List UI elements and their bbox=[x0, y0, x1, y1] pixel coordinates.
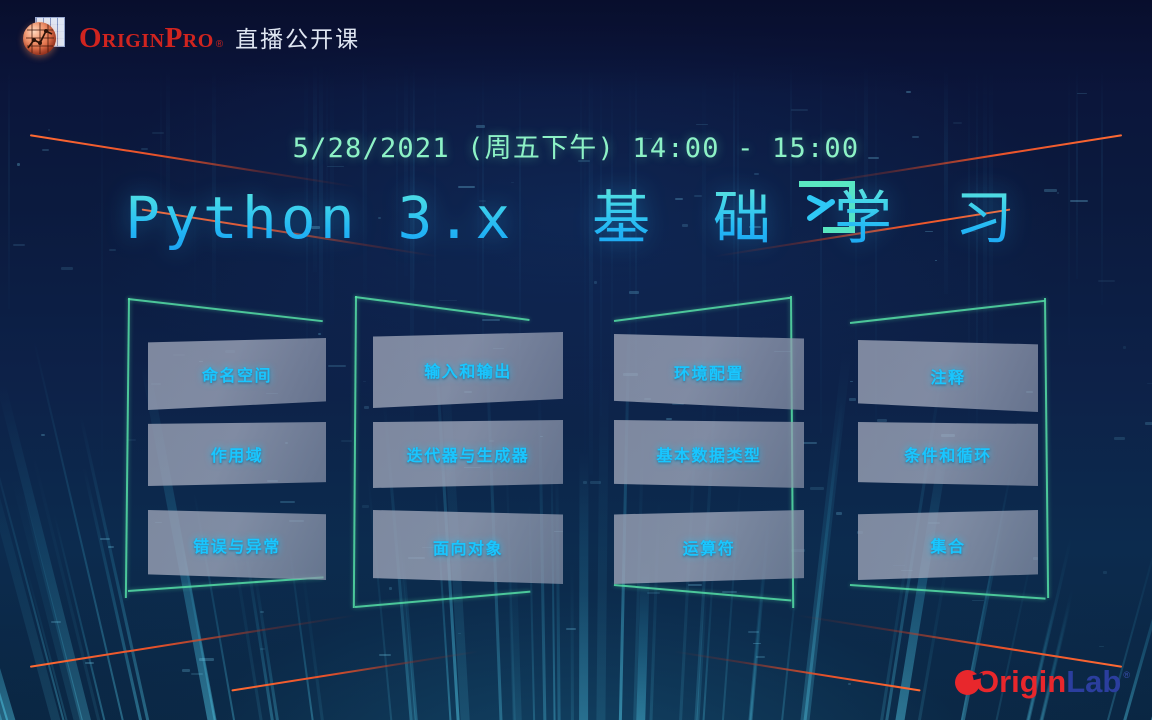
originlab-registered-mark: ® bbox=[1123, 670, 1130, 680]
background-fleck bbox=[953, 122, 962, 124]
originlab-logo[interactable]: Origin Lab ® bbox=[955, 664, 1130, 700]
background-fleck bbox=[182, 669, 190, 672]
background-fleck bbox=[191, 673, 203, 675]
background-fleck bbox=[753, 643, 761, 644]
topic-card-label: 面向对象 bbox=[433, 535, 503, 559]
background-fleck bbox=[566, 628, 576, 630]
topic-card-label: 基本数据类型 bbox=[656, 442, 761, 466]
background-fleck bbox=[696, 124, 708, 125]
originpro-wordmark: OriginPro bbox=[79, 24, 214, 53]
topic-card[interactable]: 面向对象 bbox=[373, 510, 563, 584]
panel-frame-edge bbox=[614, 297, 791, 322]
topic-card-label: 集合 bbox=[930, 533, 965, 557]
panel-frame-edge bbox=[850, 584, 1046, 599]
topic-panel-3: 环境配置基本数据类型运算符 bbox=[590, 292, 832, 622]
topic-card-label: 注释 bbox=[930, 364, 965, 388]
event-datetime: 5/28/2021 (周五下午) 14:00 - 15:00 bbox=[0, 126, 1152, 165]
page-title-latin: Python 3.x bbox=[125, 184, 514, 252]
topic-panels: 命名空间作用域错误与异常输入和输出迭代器与生成器面向对象环境配置基本数据类型运算… bbox=[0, 292, 1152, 622]
background-fleck bbox=[379, 654, 391, 656]
topic-panel-2: 输入和输出迭代器与生成器面向对象 bbox=[345, 292, 587, 622]
topic-card-label: 运算符 bbox=[683, 535, 736, 559]
topic-card-label: 条件和循环 bbox=[904, 442, 992, 466]
page-title-cn: 基 础 学 习 bbox=[592, 184, 1027, 252]
background-fleck bbox=[594, 281, 597, 284]
background-fleck bbox=[756, 656, 765, 658]
originlab-dot-icon bbox=[955, 670, 980, 695]
poster-stage: OriginPro ® 直播公开课 5/28/2021 (周五下午) 14:00… bbox=[0, 0, 1152, 720]
background-fleck bbox=[85, 662, 94, 664]
background-fleck bbox=[260, 648, 265, 650]
topic-card[interactable]: 环境配置 bbox=[614, 334, 804, 410]
originlab-lab-text: Lab bbox=[1066, 664, 1121, 700]
topic-card-label: 命名空间 bbox=[202, 362, 272, 386]
panel-frame-edge bbox=[1044, 298, 1049, 598]
topic-card[interactable]: 集合 bbox=[858, 510, 1038, 580]
panel-frame-edge bbox=[128, 298, 323, 322]
background-fleck bbox=[791, 109, 808, 111]
panel-frame-edge bbox=[355, 591, 530, 608]
originpro-logo-icon bbox=[22, 14, 68, 60]
background-fleck bbox=[199, 658, 214, 661]
background-fleck bbox=[61, 267, 73, 270]
panel-frame-edge bbox=[355, 296, 530, 321]
sphere-graph-icon bbox=[23, 22, 56, 55]
originlab-origin-text: Origin bbox=[975, 664, 1066, 700]
topic-card-label: 作用域 bbox=[211, 442, 264, 466]
topic-card[interactable]: 基本数据类型 bbox=[614, 420, 804, 488]
background-fleck bbox=[1077, 93, 1087, 94]
background-fleck bbox=[935, 260, 937, 261]
registered-mark: ® bbox=[216, 39, 223, 50]
panel-frame-edge bbox=[614, 584, 791, 601]
background-fleck bbox=[1098, 280, 1115, 282]
background-fleck bbox=[848, 683, 851, 685]
panel-frame-edge bbox=[125, 298, 130, 598]
topic-card[interactable]: 命名空间 bbox=[148, 338, 326, 410]
background-fleck bbox=[458, 633, 461, 634]
topic-card-label: 迭代器与生成器 bbox=[407, 442, 530, 466]
topic-card[interactable]: 条件和循环 bbox=[858, 422, 1038, 486]
topic-card[interactable]: 运算符 bbox=[614, 510, 804, 584]
topic-card-label: 输入和输出 bbox=[424, 358, 512, 382]
topic-panel-1: 命名空间作用域错误与异常 bbox=[120, 292, 345, 622]
topic-card-label: 错误与异常 bbox=[193, 533, 281, 557]
logo-subtitle: 直播公开课 bbox=[235, 20, 360, 54]
page-title: Python 3.x 基 础 学 习 bbox=[0, 171, 1152, 255]
topic-card[interactable]: 注释 bbox=[858, 340, 1038, 412]
panel-frame-edge bbox=[353, 296, 357, 608]
originpro-logo[interactable]: OriginPro ® 直播公开课 bbox=[22, 14, 360, 60]
panel-frame-edge bbox=[850, 300, 1045, 324]
topic-panel-4: 注释条件和循环集合 bbox=[832, 292, 1062, 622]
topic-card[interactable]: 错误与异常 bbox=[148, 510, 326, 580]
background-fleck bbox=[748, 631, 759, 633]
topic-card[interactable]: 输入和输出 bbox=[373, 332, 563, 408]
topic-card[interactable]: 迭代器与生成器 bbox=[373, 420, 563, 488]
title-block: 5/28/2021 (周五下午) 14:00 - 15:00 Python 3.… bbox=[0, 126, 1152, 255]
topic-card[interactable]: 作用域 bbox=[148, 422, 326, 486]
topic-card-label: 环境配置 bbox=[674, 360, 744, 384]
background-fleck bbox=[1099, 646, 1104, 647]
